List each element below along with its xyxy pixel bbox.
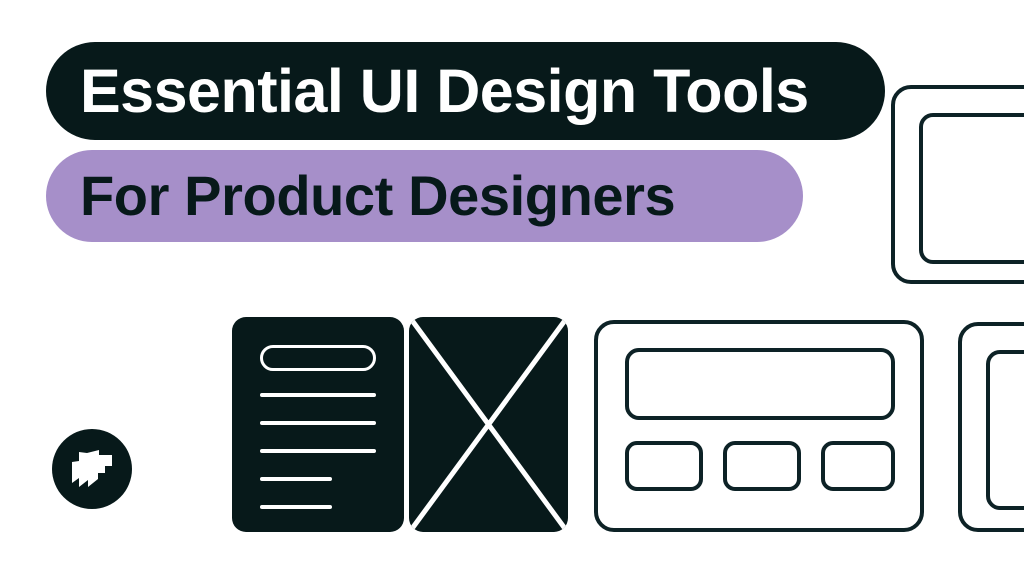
headline-line-2: For Product Designers xyxy=(80,168,675,224)
wireframe-corner-card-bottom-right xyxy=(958,322,1024,532)
wireframe-corner-card-top-right xyxy=(891,85,1024,284)
wireframe-chip-left xyxy=(625,441,703,491)
wireframe-text-line xyxy=(260,449,376,453)
wireframe-text-content-card xyxy=(232,317,404,532)
wireframe-inner-block xyxy=(986,350,1024,510)
headline-pill-primary: Essential UI Design Tools xyxy=(46,42,885,140)
wireframe-text-line xyxy=(260,393,376,397)
wireframe-hero-block xyxy=(625,348,895,420)
wireframe-layout-card xyxy=(594,320,924,532)
wireframe-chip-right xyxy=(821,441,895,491)
x-cross-icon xyxy=(409,317,568,532)
wireframe-text-line xyxy=(260,477,332,481)
wireframe-image-placeholder-card xyxy=(409,317,568,532)
headline-pill-secondary: For Product Designers xyxy=(46,150,803,242)
brand-mark-icon xyxy=(69,449,115,489)
headline-line-1: Essential UI Design Tools xyxy=(80,61,809,122)
wireframe-text-line xyxy=(260,421,376,425)
brand-logo-badge[interactable] xyxy=(52,429,132,509)
wireframe-text-line xyxy=(260,505,332,509)
wireframe-chip-center xyxy=(723,441,801,491)
poster-canvas: Essential UI Design Tools For Product De… xyxy=(0,0,1024,576)
wireframe-input-field xyxy=(260,345,376,371)
wireframe-inner-block xyxy=(919,113,1024,264)
